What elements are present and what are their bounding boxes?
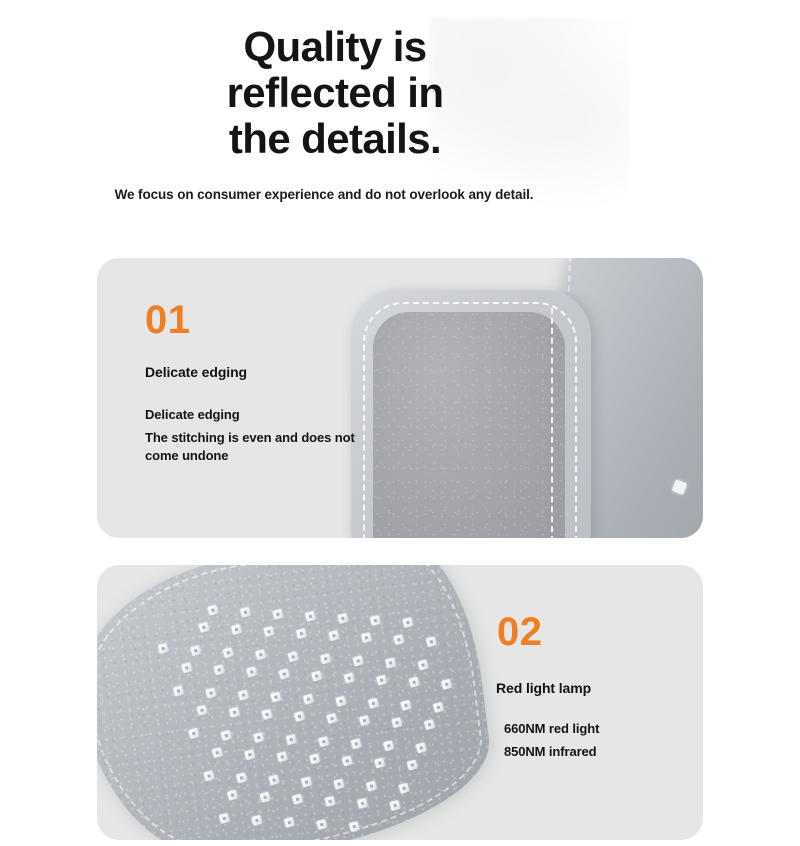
led-dot (398, 783, 409, 794)
led-dot (301, 777, 312, 788)
led-dot (351, 738, 362, 749)
led-dot (353, 655, 364, 666)
led-dot (219, 813, 230, 824)
led-dot (424, 719, 435, 730)
led-dot (181, 662, 192, 673)
feature-detail-line: The stitching is even and does not come … (145, 429, 360, 465)
led-dot (236, 772, 247, 783)
led-dot (416, 742, 427, 753)
led-dot (198, 622, 209, 633)
feature-card-01: 01 Delicate edging Delicate edging The s… (97, 258, 703, 538)
led-dot (335, 696, 346, 707)
page-subtitle: We focus on consumer experience and do n… (0, 187, 800, 202)
led-dot (227, 790, 238, 801)
stitching-seam (551, 308, 579, 538)
led-dot (409, 677, 420, 688)
led-dot (326, 713, 337, 724)
led-dot (246, 666, 257, 677)
feature-card-02: 02 Red light lamp 660NM red light 850NM … (97, 565, 703, 840)
led-dot (279, 669, 290, 680)
led-dot (376, 675, 387, 686)
fabric-speck (672, 479, 688, 495)
led-dot (441, 679, 452, 690)
led-dot (328, 630, 339, 641)
led-dot (390, 800, 401, 811)
led-dot (231, 624, 242, 635)
led-dot (212, 747, 223, 758)
led-dot (253, 732, 264, 743)
feature-detail-list-01: Delicate edging The stitching is even an… (145, 406, 360, 465)
feature-detail-line: Delicate edging (145, 406, 360, 424)
led-dot (173, 686, 184, 697)
led-dot (361, 632, 372, 643)
led-dot (196, 705, 207, 716)
led-dot (400, 700, 411, 711)
led-dot (158, 643, 169, 654)
led-dot (284, 817, 295, 828)
led-dot (318, 736, 329, 747)
led-dot (337, 613, 348, 624)
feature-detail-list-02: 660NM red light 850NM infrared (495, 720, 599, 761)
led-dot (357, 798, 368, 809)
led-dot (309, 753, 320, 764)
led-dot (207, 605, 218, 616)
led-dot (269, 775, 280, 786)
led-dot (316, 819, 327, 830)
led-dot (344, 673, 355, 684)
page-title: Quality is reflected in the details. (0, 24, 800, 162)
stitching-outline (363, 302, 577, 538)
led-dot (305, 611, 316, 622)
page-title-line-2: reflected in (0, 70, 670, 116)
led-dot (342, 755, 353, 766)
led-dot (359, 715, 370, 726)
led-dot (433, 702, 444, 713)
feature-number-01: 01 (145, 300, 360, 340)
led-dot (204, 770, 215, 781)
led-dot (393, 634, 404, 645)
led-dot (263, 626, 274, 637)
led-dot (296, 628, 307, 639)
led-dot (426, 636, 437, 647)
led-dot (325, 796, 336, 807)
led-dot (311, 671, 322, 682)
led-dot-grid (143, 566, 471, 840)
led-dot (294, 711, 305, 722)
led-dot (205, 688, 216, 699)
led-dot (244, 749, 255, 760)
led-dot (261, 709, 272, 720)
led-dot (320, 653, 331, 664)
led-dot (334, 779, 345, 790)
led-dot (391, 717, 402, 728)
led-dot (229, 707, 240, 718)
feature-detail-line: 660NM red light (504, 720, 599, 738)
page-header: Quality is reflected in the details. We … (0, 0, 800, 248)
led-dot (407, 760, 418, 771)
led-dot (370, 615, 381, 626)
led-dot (385, 657, 396, 668)
feature-number-02: 02 (495, 612, 599, 652)
led-dot (288, 651, 299, 662)
feature-card-02-text: 02 Red light lamp 660NM red light 850NM … (495, 612, 599, 761)
led-dot (260, 792, 271, 803)
led-dot (383, 740, 394, 751)
led-belt-panel-photo (97, 565, 517, 840)
led-dot (272, 609, 283, 620)
led-dot (286, 734, 297, 745)
led-dot (214, 664, 225, 675)
led-dot (402, 617, 413, 628)
feature-heading-02: Red light lamp (495, 680, 599, 696)
led-dot (292, 794, 303, 805)
feature-card-01-text: 01 Delicate edging Delicate edging The s… (145, 300, 360, 465)
page-title-line-1: Quality is (0, 24, 670, 70)
led-dot (251, 815, 262, 826)
led-dot (240, 607, 251, 618)
feature-detail-line: 850NM infrared (504, 743, 599, 761)
led-dot (190, 645, 201, 656)
led-dot (368, 698, 379, 709)
pad-front-layer (351, 290, 591, 538)
page-title-line-3: the details. (0, 116, 670, 162)
led-dot (277, 751, 288, 762)
led-dot (366, 781, 377, 792)
led-dot (418, 660, 429, 671)
led-dot (221, 730, 232, 741)
led-dot (238, 690, 249, 701)
led-dot (374, 758, 385, 769)
led-dot (255, 649, 266, 660)
led-dot (188, 728, 199, 739)
led-dot (303, 694, 314, 705)
brace-pad-stitched-edge-photo (323, 258, 703, 538)
feature-heading-01: Delicate edging (145, 364, 360, 380)
led-dot (223, 647, 234, 658)
led-dot (270, 692, 281, 703)
